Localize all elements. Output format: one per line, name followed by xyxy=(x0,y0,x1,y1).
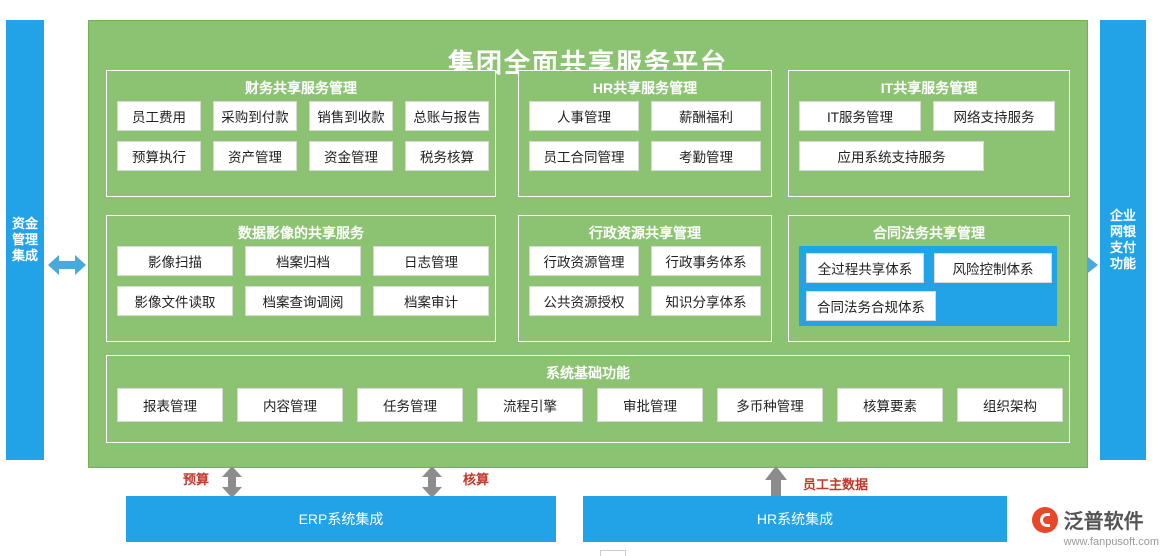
hr-integration-box: HR系统集成 xyxy=(583,496,1007,542)
cell-it-0-0[interactable]: IT服务管理 xyxy=(799,101,921,131)
panel-finance: 财务共享服务管理 员工费用 采购到付款 销售到收款 总账与报告 预算执行 资产管… xyxy=(106,70,496,197)
panel-finance-title: 财务共享服务管理 xyxy=(107,78,495,98)
cell-hr-0-1[interactable]: 薪酬福利 xyxy=(651,101,761,131)
cell-base-5[interactable]: 多币种管理 xyxy=(717,388,823,422)
panel-hr-row: 人事管理 薪酬福利 xyxy=(529,101,761,131)
cell-it-0-1[interactable]: 网络支持服务 xyxy=(933,101,1055,131)
cell-admin-1-0[interactable]: 公共资源授权 xyxy=(529,286,639,316)
erp-integration-box: ERP系统集成 xyxy=(126,496,556,542)
left-bar-label: 资金管理集成 xyxy=(10,216,40,265)
cell-base-3[interactable]: 流程引擎 xyxy=(477,388,583,422)
cell-base-2[interactable]: 任务管理 xyxy=(357,388,463,422)
brand-mark-icon xyxy=(1032,507,1058,533)
panel-admin-cells: 行政资源管理 行政事务体系 公共资源授权 知识分享体系 xyxy=(529,246,761,333)
panel-admin-row: 行政资源管理 行政事务体系 xyxy=(529,246,761,276)
hr-employee-master-up-arrow-icon xyxy=(764,466,788,498)
panel-data-image-row: 影像扫描 档案归档 日志管理 xyxy=(117,246,485,276)
panel-contract-row: 全过程共享体系 风险控制体系 xyxy=(806,253,1050,283)
left-double-arrow-icon xyxy=(48,252,86,278)
cell-finance-1-2[interactable]: 资金管理 xyxy=(309,141,393,171)
right-bar-label: 企业网银支付功能 xyxy=(1104,208,1142,273)
cell-image-0-0[interactable]: 影像扫描 xyxy=(117,246,233,276)
panel-it-title: IT共享服务管理 xyxy=(789,78,1069,98)
cell-admin-1-1[interactable]: 知识分享体系 xyxy=(651,286,761,316)
bottom-tick-marker xyxy=(600,550,626,556)
brand-logo: 泛普软件 www.fanpusoft.com xyxy=(1032,505,1159,548)
panel-hr-row: 员工合同管理 考勤管理 xyxy=(529,141,761,171)
brand-logo-main: 泛普软件 xyxy=(1032,505,1144,534)
panel-it-row: 应用系统支持服务 xyxy=(799,141,1059,171)
cell-finance-0-0[interactable]: 员工费用 xyxy=(117,101,201,131)
cell-base-4[interactable]: 审批管理 xyxy=(597,388,703,422)
cell-admin-0-1[interactable]: 行政事务体系 xyxy=(651,246,761,276)
panel-base: 系统基础功能 报表管理 内容管理 任务管理 流程引擎 审批管理 多币种管理 核算… xyxy=(106,355,1070,443)
cell-contract-1-0[interactable]: 合同法务合规体系 xyxy=(806,291,936,321)
panel-admin-row: 公共资源授权 知识分享体系 xyxy=(529,286,761,316)
panel-data-image-title: 数据影像的共享服务 xyxy=(107,223,495,243)
cell-base-7[interactable]: 组织架构 xyxy=(957,388,1063,422)
cell-hr-1-1[interactable]: 考勤管理 xyxy=(651,141,761,171)
cell-base-0[interactable]: 报表管理 xyxy=(117,388,223,422)
brand-name: 泛普软件 xyxy=(1064,505,1144,534)
right-ebank-payment-bar: 企业网银支付功能 xyxy=(1100,20,1146,460)
cell-image-1-1[interactable]: 档案查询调阅 xyxy=(245,286,361,316)
cell-image-1-2[interactable]: 档案审计 xyxy=(373,286,489,316)
hr-integration-label: HR系统集成 xyxy=(757,509,833,529)
erp-accounting-double-arrow-icon xyxy=(420,466,444,498)
cell-finance-0-1[interactable]: 采购到付款 xyxy=(213,101,297,131)
panel-hr-cells: 人事管理 薪酬福利 员工合同管理 考勤管理 xyxy=(529,101,761,188)
cell-admin-0-0[interactable]: 行政资源管理 xyxy=(529,246,639,276)
panel-contract: 合同法务共享管理 全过程共享体系 风险控制体系 合同法务合规体系 xyxy=(788,215,1070,342)
panel-data-image-cells: 影像扫描 档案归档 日志管理 影像文件读取 档案查询调阅 档案审计 xyxy=(117,246,485,333)
cell-image-1-0[interactable]: 影像文件读取 xyxy=(117,286,233,316)
panel-base-cells: 报表管理 内容管理 任务管理 流程引擎 审批管理 多币种管理 核算要素 组织架构 xyxy=(117,388,1059,434)
panel-it: IT共享服务管理 IT服务管理 网络支持服务 应用系统支持服务 xyxy=(788,70,1070,197)
brand-url: www.fanpusoft.com xyxy=(1064,536,1159,548)
left-funds-management-bar: 资金管理集成 xyxy=(6,20,44,460)
panel-base-title: 系统基础功能 xyxy=(107,363,1069,383)
erp-integration-label: ERP系统集成 xyxy=(299,509,384,529)
cell-finance-0-2[interactable]: 销售到收款 xyxy=(309,101,393,131)
cell-hr-0-0[interactable]: 人事管理 xyxy=(529,101,639,131)
panel-it-cells: IT服务管理 网络支持服务 应用系统支持服务 xyxy=(799,101,1059,188)
cell-finance-1-0[interactable]: 预算执行 xyxy=(117,141,201,171)
panel-contract-title: 合同法务共享管理 xyxy=(789,223,1069,243)
panel-contract-row: 合同法务合规体系 xyxy=(806,291,1050,321)
panel-finance-row: 预算执行 资产管理 资金管理 税务核算 xyxy=(117,141,485,171)
contract-highlight-box: 全过程共享体系 风险控制体系 合同法务合规体系 xyxy=(799,246,1057,326)
panel-finance-cells: 员工费用 采购到付款 销售到收款 总账与报告 预算执行 资产管理 资金管理 税务… xyxy=(117,101,485,188)
panel-data-image: 数据影像的共享服务 影像扫描 档案归档 日志管理 影像文件读取 档案查询调阅 档… xyxy=(106,215,496,342)
erp-budget-double-arrow-icon xyxy=(220,466,244,498)
cell-finance-1-1[interactable]: 资产管理 xyxy=(213,141,297,171)
panel-admin: 行政资源共享管理 行政资源管理 行政事务体系 公共资源授权 知识分享体系 xyxy=(518,215,772,342)
cell-base-6[interactable]: 核算要素 xyxy=(837,388,943,422)
panel-it-row: IT服务管理 网络支持服务 xyxy=(799,101,1059,131)
panel-hr: HR共享服务管理 人事管理 薪酬福利 员工合同管理 考勤管理 xyxy=(518,70,772,197)
flow-label-accounting: 核算 xyxy=(463,469,489,488)
flow-label-budget: 预算 xyxy=(183,469,209,488)
cell-base-1[interactable]: 内容管理 xyxy=(237,388,343,422)
cell-contract-0-1[interactable]: 风险控制体系 xyxy=(934,253,1052,283)
cell-it-1-0[interactable]: 应用系统支持服务 xyxy=(799,141,984,171)
panel-finance-row: 员工费用 采购到付款 销售到收款 总账与报告 xyxy=(117,101,485,131)
flow-label-employee-master: 员工主数据 xyxy=(803,474,868,493)
panel-admin-title: 行政资源共享管理 xyxy=(519,223,771,243)
cell-contract-0-0[interactable]: 全过程共享体系 xyxy=(806,253,924,283)
cell-image-0-2[interactable]: 日志管理 xyxy=(373,246,489,276)
panel-hr-title: HR共享服务管理 xyxy=(519,78,771,98)
cell-finance-0-3[interactable]: 总账与报告 xyxy=(405,101,489,131)
panel-data-image-row: 影像文件读取 档案查询调阅 档案审计 xyxy=(117,286,485,316)
panel-base-row: 报表管理 内容管理 任务管理 流程引擎 审批管理 多币种管理 核算要素 组织架构 xyxy=(117,388,1059,422)
cell-finance-1-3[interactable]: 税务核算 xyxy=(405,141,489,171)
cell-hr-1-0[interactable]: 员工合同管理 xyxy=(529,141,639,171)
diagram-canvas: 资金管理集成 企业网银支付功能 集团全面共享服务平台 财务共享服务管理 员工费用… xyxy=(0,0,1167,556)
cell-image-0-1[interactable]: 档案归档 xyxy=(245,246,361,276)
